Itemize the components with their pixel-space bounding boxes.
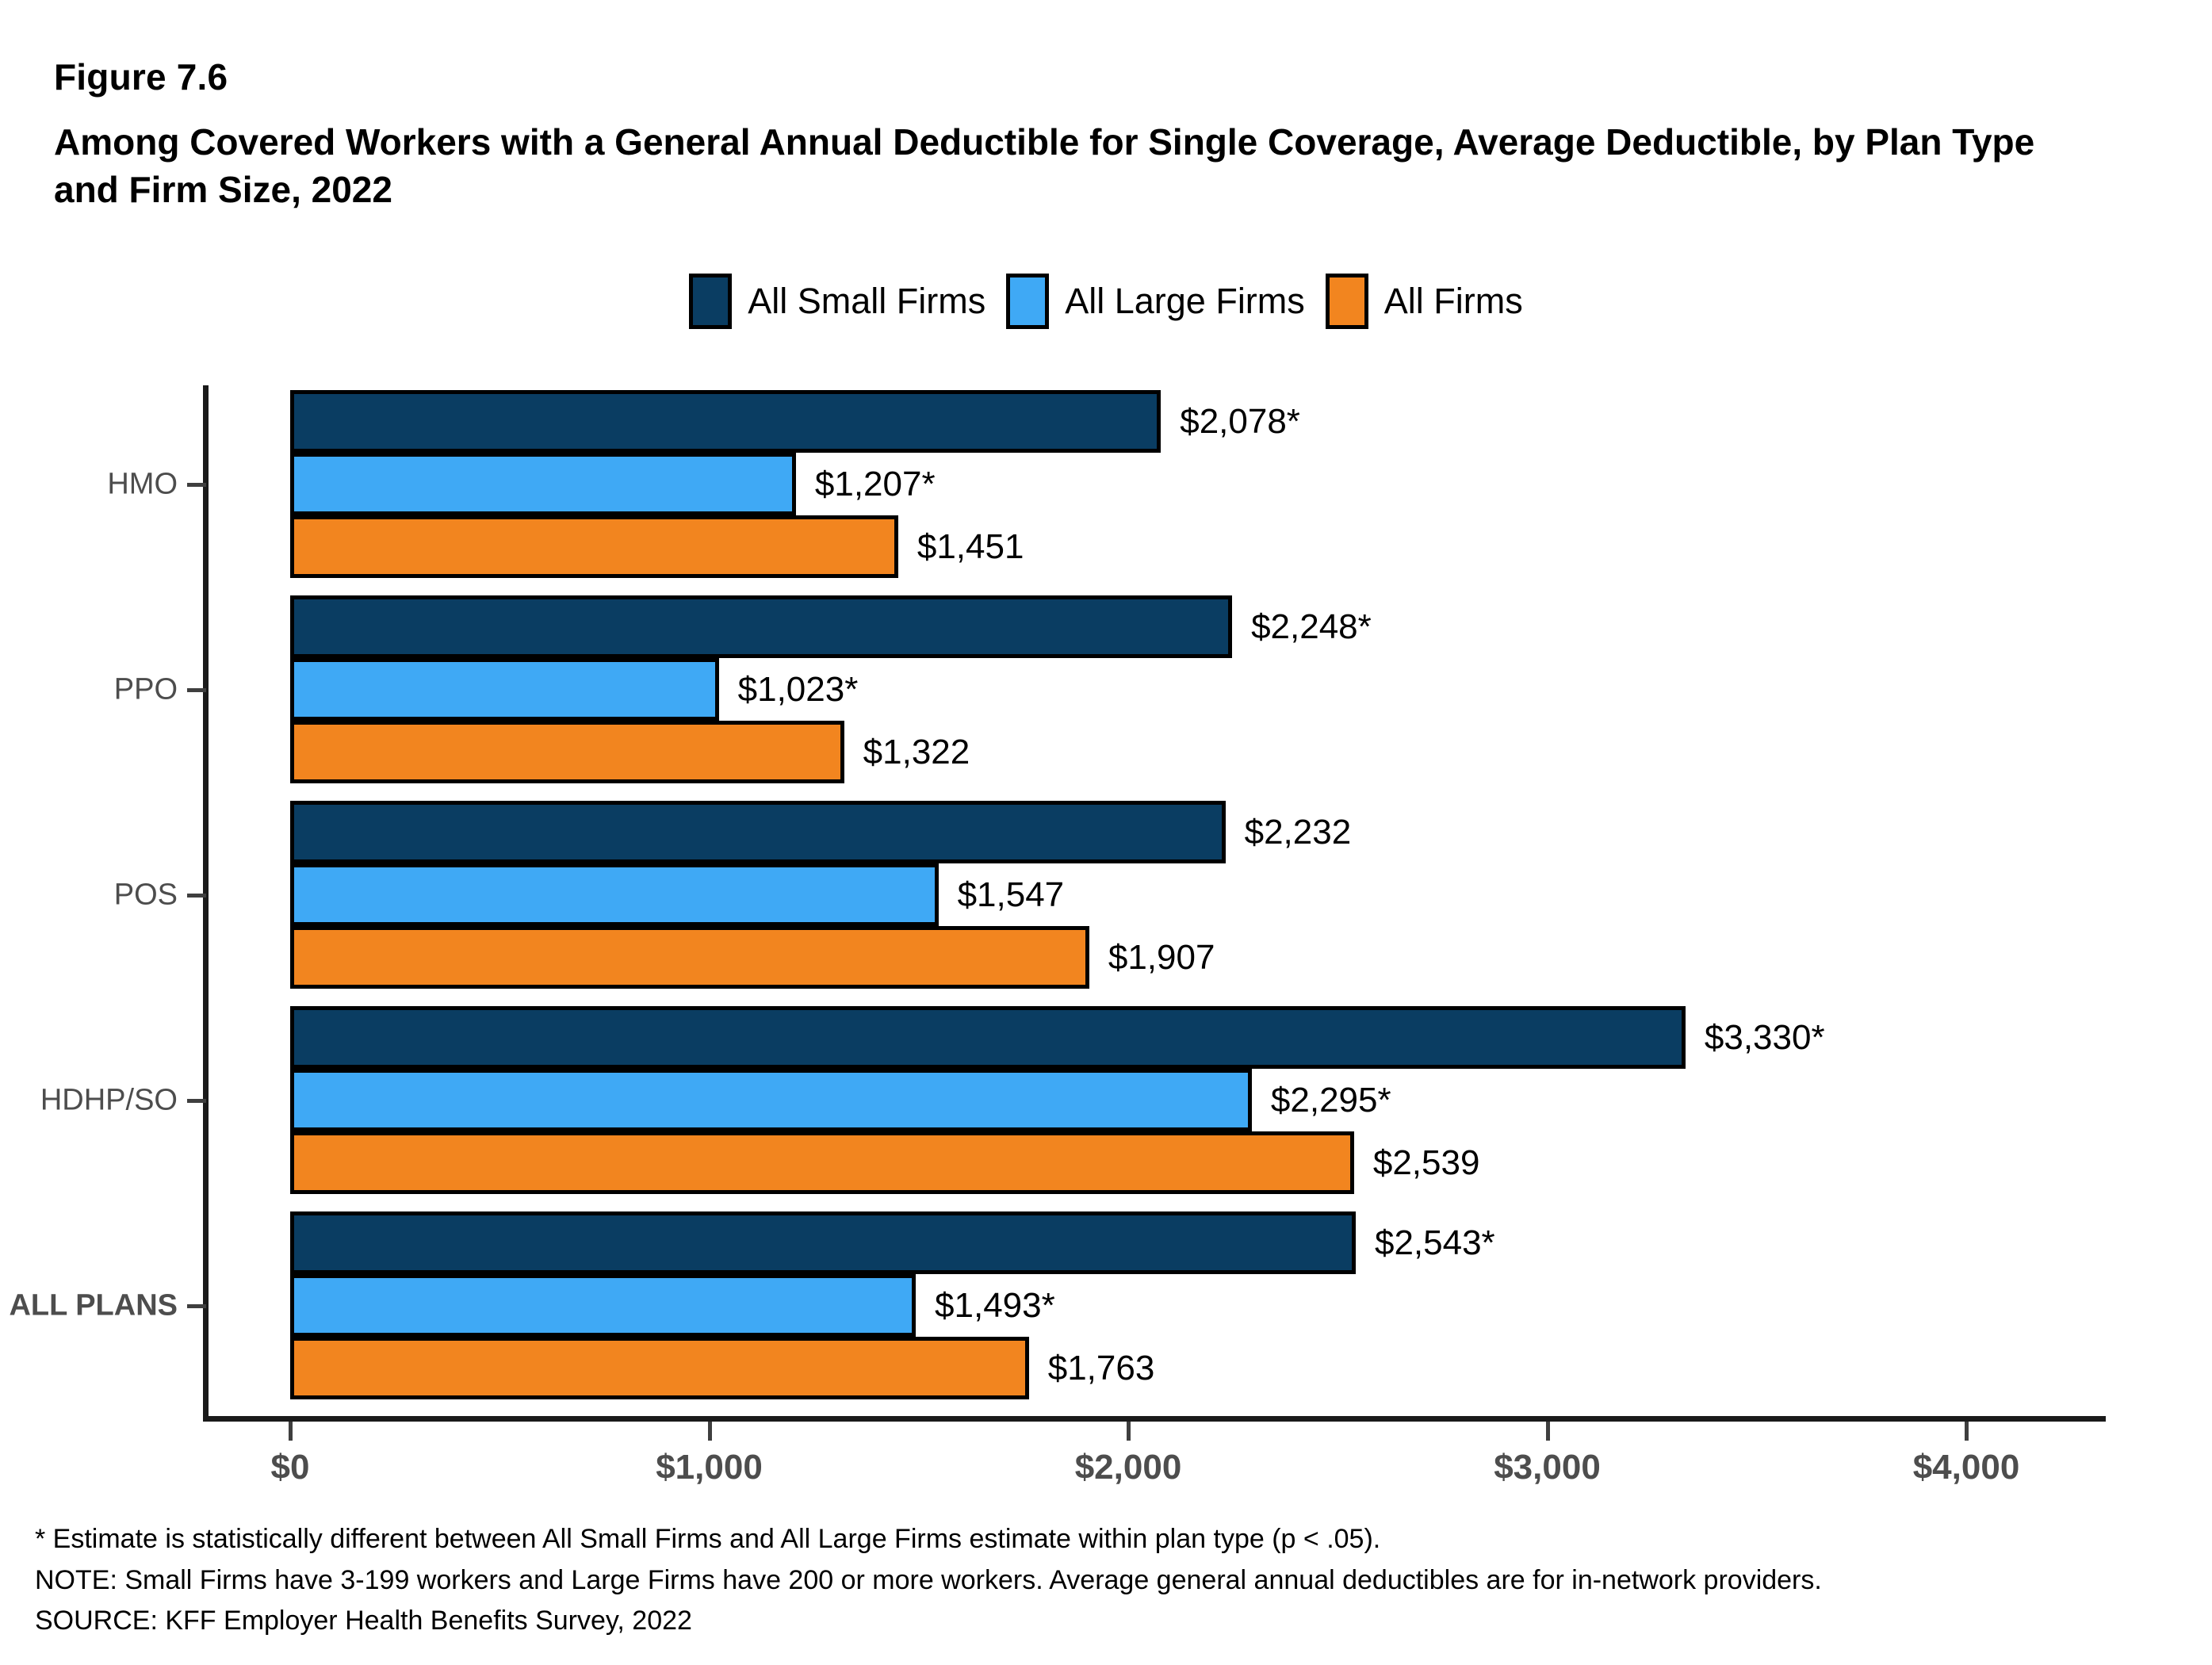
y-axis-label-hmo: HMO [107, 467, 178, 501]
x-axis-label: $1,000 [656, 1448, 763, 1487]
bar [290, 453, 796, 515]
chart-legend: All Small FirmsAll Large FirmsAll Firms [0, 274, 2212, 329]
footnote-source: SOURCE: KFF Employer Health Benefits Sur… [35, 1601, 2176, 1642]
x-axis-tick [1546, 1422, 1550, 1441]
x-axis-tick [1965, 1422, 1969, 1441]
bar [290, 390, 1161, 453]
footnote-significance: * Estimate is statistically different be… [35, 1519, 2176, 1560]
y-axis-tick [187, 1304, 206, 1308]
y-axis-label-all-plans: ALL PLANS [9, 1288, 178, 1322]
figure-number: Figure 7.6 [54, 55, 228, 98]
figure-title: Among Covered Workers with a General Ann… [54, 119, 2084, 214]
bar [290, 1211, 1356, 1274]
bar-value-label: $2,539 [1373, 1143, 1480, 1183]
bar-value-label: $1,907 [1108, 938, 1215, 978]
bar [290, 1006, 1686, 1069]
y-axis-tick [187, 483, 206, 487]
x-axis-line [203, 1416, 2106, 1422]
figure-canvas: Figure 7.6 Among Covered Workers with a … [0, 0, 2212, 1665]
bar-value-label: $2,543* [1375, 1223, 1495, 1263]
bar [290, 1069, 1252, 1131]
x-axis-label: $2,000 [1075, 1448, 1182, 1487]
bar [290, 863, 939, 926]
footnote-note: NOTE: Small Firms have 3-199 workers and… [35, 1560, 2176, 1602]
legend-swatch-1 [1006, 274, 1049, 329]
legend-item-2: All Firms [1326, 274, 1523, 329]
bar-value-label: $1,207* [815, 465, 936, 504]
bar [290, 801, 1226, 863]
bar [290, 658, 719, 721]
y-axis-line [203, 385, 209, 1421]
legend-swatch-2 [1326, 274, 1368, 329]
y-axis-label-pos: POS [114, 878, 178, 912]
legend-swatch-0 [689, 274, 732, 329]
bar [290, 1274, 916, 1337]
legend-item-1: All Large Firms [1006, 274, 1305, 329]
footnotes: * Estimate is statistically different be… [35, 1519, 2176, 1642]
x-axis-label: $4,000 [1913, 1448, 2020, 1487]
y-axis-tick [187, 1099, 206, 1103]
x-axis-tick [289, 1422, 293, 1441]
x-axis-tick [1127, 1422, 1131, 1441]
legend-item-0: All Small Firms [689, 274, 985, 329]
bar-value-label: $1,493* [935, 1286, 1055, 1326]
x-axis-label: $3,000 [1494, 1448, 1601, 1487]
bar-value-label: $2,248* [1251, 607, 1372, 647]
y-axis-tick [187, 688, 206, 692]
y-axis-label-ppo: PPO [114, 672, 178, 706]
legend-label-2: All Firms [1384, 281, 1523, 322]
bar-value-label: $2,295* [1271, 1081, 1391, 1120]
bar [290, 515, 898, 578]
bar [290, 926, 1089, 989]
bar-value-label: $3,330* [1705, 1018, 1825, 1058]
y-axis-label-hdhp-so: HDHP/SO [40, 1083, 178, 1117]
y-axis-tick [187, 894, 206, 898]
bar-value-label: $1,547 [958, 875, 1065, 915]
legend-label-1: All Large Firms [1065, 281, 1305, 322]
x-axis-label: $0 [271, 1448, 310, 1487]
bar-value-label: $1,322 [863, 733, 970, 772]
x-axis-tick [708, 1422, 712, 1441]
bar [290, 1337, 1029, 1399]
bar-value-label: $1,023* [738, 670, 859, 710]
bar-value-label: $1,451 [917, 527, 1024, 567]
bar-value-label: $1,763 [1048, 1349, 1155, 1388]
bar [290, 595, 1232, 658]
bar [290, 721, 844, 783]
bar [290, 1131, 1354, 1194]
bar-value-label: $2,078* [1180, 402, 1300, 442]
plot-area: $2,078*$1,207*$1,451$2,248*$1,023*$1,322… [0, 0, 2212, 1665]
bar-value-label: $2,232 [1245, 813, 1352, 852]
legend-label-0: All Small Firms [748, 281, 985, 322]
